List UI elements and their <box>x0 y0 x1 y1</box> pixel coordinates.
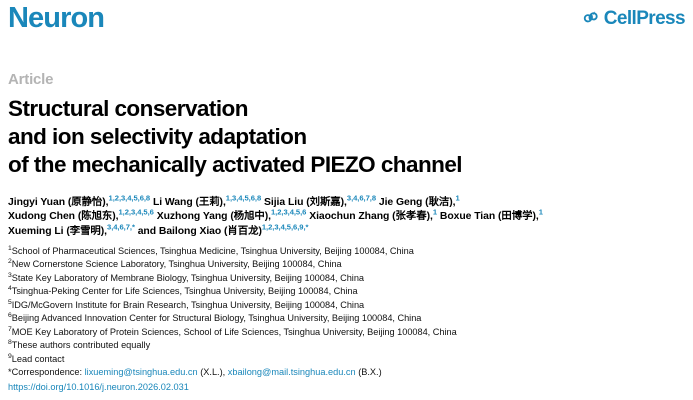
author-name[interactable]: Jingyi Yuan (原静怡), <box>8 197 109 208</box>
correspondence-separator: , <box>223 367 226 377</box>
title-line-3: of the mechanically activated PIEZO chan… <box>8 151 685 179</box>
affiliation-item: 5IDG/McGovern Institute for Brain Resear… <box>8 299 685 313</box>
author-affiliation-refs: 1,2,3,4,5,6,8 <box>109 193 151 202</box>
author-list: Jingyi Yuan (原静怡),1,2,3,4,5,6,8 Li Wang … <box>8 196 685 240</box>
footnote-list: 8These authors contributed equally 9Lead… <box>8 339 685 366</box>
footnote-item: 8These authors contributed equally <box>8 339 685 353</box>
correspondence-label: *Correspondence: <box>8 367 82 377</box>
author-name[interactable]: Xiaochun Zhang (张孝春), <box>309 211 433 222</box>
page-title: Structural conservation and ion selectiv… <box>8 95 685 180</box>
affiliation-text: Beijing Advanced Innovation Center for S… <box>12 313 422 323</box>
author-name[interactable]: Jie Geng (耿洁), <box>379 197 456 208</box>
correspondence-initials-1: (X.L.) <box>200 367 222 377</box>
affiliation-item: 7MOE Key Laboratory of Protein Sciences,… <box>8 326 685 340</box>
article-type-label: Article <box>8 72 685 89</box>
author-name[interactable]: and Bailong Xiao (肖百龙) <box>138 226 262 237</box>
author-name[interactable]: Boxue Tian (田博学), <box>440 211 539 222</box>
affiliation-text: MOE Key Laboratory of Protein Sciences, … <box>12 327 457 337</box>
correspondence-email-2[interactable]: xbailong@mail.tsinghua.edu.cn <box>228 367 356 377</box>
author-affiliation-refs: 1,2,3,4,5,6,9,* <box>262 223 309 232</box>
author-name[interactable]: Xueming Li (李雪明), <box>8 226 107 237</box>
author-line-1: Jingyi Yuan (原静怡),1,2,3,4,5,6,8 Li Wang … <box>8 196 685 211</box>
author-name[interactable]: Sijia Liu (刘斯嘉), <box>264 197 347 208</box>
title-line-2: and ion selectivity adaptation <box>8 123 685 151</box>
author-affiliation-refs: 1 <box>456 193 460 202</box>
title-line-1: Structural conservation <box>8 95 685 123</box>
masthead: Neuron CellPress <box>8 0 685 46</box>
affiliation-list: 1School of Pharmaceutical Sciences, Tsin… <box>8 245 685 340</box>
author-affiliation-refs: 1 <box>433 208 437 217</box>
affiliation-item: 3State Key Laboratory of Membrane Biolog… <box>8 272 685 286</box>
correspondence-line: *Correspondence: lixueming@tsinghua.edu.… <box>8 366 685 380</box>
footnote-item: 9Lead contact <box>8 353 685 367</box>
author-name[interactable]: Xuzhong Yang (杨旭中), <box>157 211 271 222</box>
affiliation-text: New Cornerstone Science Laboratory, Tsin… <box>12 259 342 269</box>
affiliation-item: 2New Cornerstone Science Laboratory, Tsi… <box>8 258 685 272</box>
affiliation-item: 4Tsinghua-Peking Center for Life Science… <box>8 285 685 299</box>
author-line-3: Xueming Li (李雪明),3,4,6,7,* and Bailong X… <box>8 225 685 240</box>
author-affiliation-refs: 1,2,3,4,5,6 <box>271 208 306 217</box>
correspondence-initials-2: (B.X.) <box>358 367 381 377</box>
cellpress-wordmark: CellPress <box>604 9 685 28</box>
journal-logo[interactable]: Neuron <box>8 4 104 33</box>
author-name[interactable]: Xudong Chen (陈旭东), <box>8 211 119 222</box>
author-affiliation-refs: 1,2,3,4,5,6 <box>119 208 154 217</box>
correspondence-email-1[interactable]: lixueming@tsinghua.edu.cn <box>85 367 198 377</box>
doi-line: https://doi.org/10.1016/j.neuron.2026.02… <box>8 381 685 395</box>
affiliation-text: Tsinghua-Peking Center for Life Sciences… <box>12 286 358 296</box>
cellpress-logo[interactable]: CellPress <box>583 9 685 28</box>
affiliation-text: IDG/McGovern Institute for Brain Researc… <box>12 300 364 310</box>
affiliation-text: State Key Laboratory of Membrane Biology… <box>12 273 364 283</box>
author-affiliation-refs: 3,4,6,7,8 <box>347 193 376 202</box>
doi-link[interactable]: https://doi.org/10.1016/j.neuron.2026.02… <box>8 382 189 392</box>
cellpress-swirl-icon <box>583 10 600 27</box>
affiliation-item: 1School of Pharmaceutical Sciences, Tsin… <box>8 245 685 259</box>
author-affiliation-refs: 3,4,6,7,* <box>107 223 135 232</box>
affiliation-item: 6Beijing Advanced Innovation Center for … <box>8 312 685 326</box>
author-affiliation-refs: 1 <box>539 208 543 217</box>
affiliation-text: School of Pharmaceutical Sciences, Tsing… <box>12 246 414 256</box>
footnote-text: Lead contact <box>12 354 65 364</box>
article-header-page: Neuron CellPress Article Structural cons… <box>0 0 693 400</box>
footnote-text: These authors contributed equally <box>12 340 150 350</box>
author-name[interactable]: Li Wang (王莉), <box>153 197 226 208</box>
author-affiliation-refs: 1,3,4,5,6,8 <box>226 193 261 202</box>
